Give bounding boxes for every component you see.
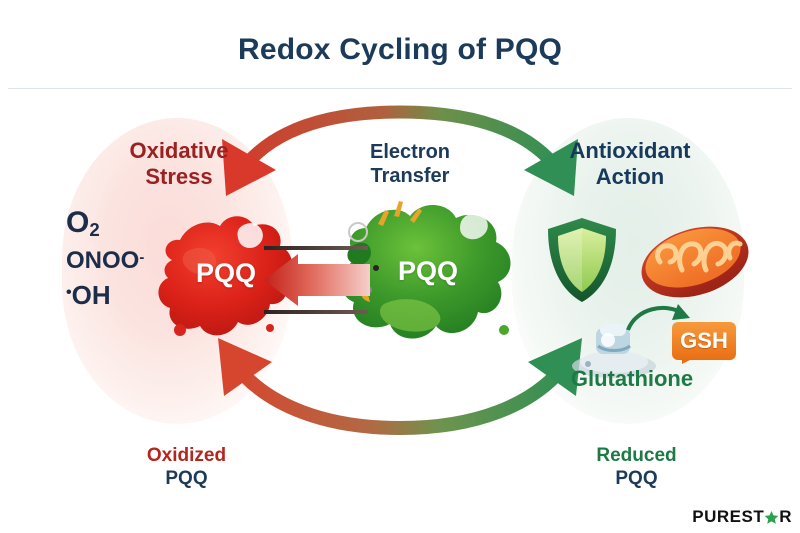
oxidized-caption-bottom: PQQ: [84, 468, 289, 491]
logo-text-part2: R: [779, 507, 792, 527]
electron-transfer-heading: Electron Transfer: [330, 141, 490, 188]
oxidized-caption-top: Oxidized: [84, 445, 289, 468]
glutathione-label: Glutathione: [528, 366, 736, 392]
reduced-pqq-caption: Reduced PQQ: [534, 445, 739, 491]
antioxidant-action-heading-line2: Action: [524, 164, 736, 190]
oxidative-stress-heading-line1: Oxidative: [74, 138, 284, 164]
gsh-badge-label: GSH: [672, 322, 736, 360]
shield-icon: [546, 216, 618, 304]
oxidative-stress-heading: Oxidative Stress: [74, 138, 284, 189]
antioxidant-action-heading: Antioxidant Action: [524, 138, 736, 189]
gsh-badge: GSH: [672, 322, 736, 364]
oxidative-stress-heading-line2: Stress: [74, 164, 284, 190]
page-title: Redox Cycling of PQQ: [0, 33, 800, 67]
reduced-caption-top: Reduced: [534, 445, 739, 468]
mitochondria-icon: [638, 218, 752, 304]
logo-text-part1: PUREST: [692, 507, 764, 527]
electron-transfer-heading-line2: Transfer: [330, 165, 490, 189]
antioxidant-action-heading-line1: Antioxidant: [524, 138, 736, 164]
logo-star-icon: [764, 510, 779, 525]
infographic-canvas: Redox Cycling of PQQ: [0, 0, 800, 533]
oxidized-pqq-caption: Oxidized PQQ: [84, 445, 289, 491]
electron-transfer-arrow: [258, 240, 370, 326]
reduced-caption-bottom: PQQ: [534, 468, 739, 491]
electron-transfer-heading-line1: Electron: [330, 141, 490, 165]
purestar-logo: PUREST R: [692, 507, 792, 527]
title-divider: [8, 88, 792, 89]
